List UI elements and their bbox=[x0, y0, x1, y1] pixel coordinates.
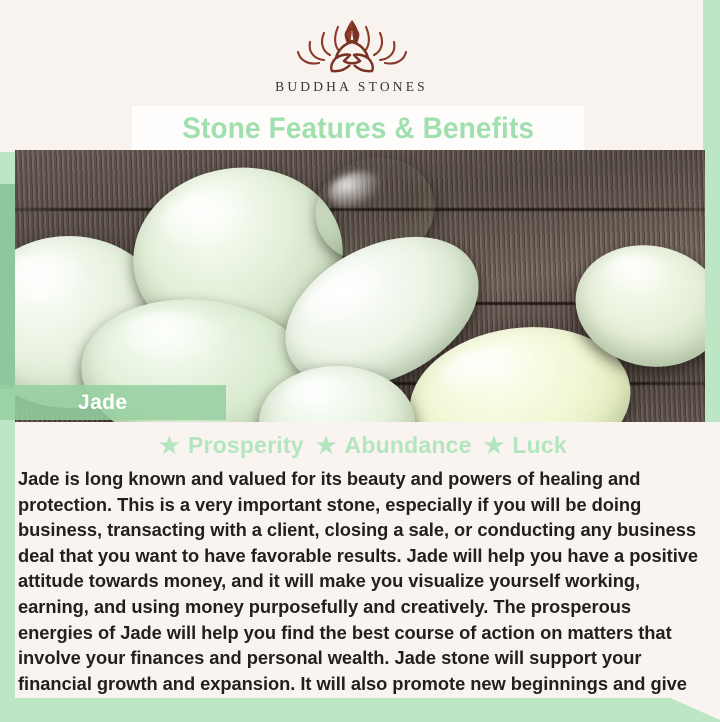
header-panel: BUDDHA STONES Stone Features & Benefits bbox=[0, 0, 703, 152]
lotus-meditation-icon bbox=[286, 14, 418, 76]
stone-photo bbox=[15, 150, 705, 422]
brand-block: BUDDHA STONES bbox=[0, 14, 703, 95]
left-accent-tab bbox=[0, 184, 15, 389]
keyword-abundance: Abundance bbox=[345, 432, 472, 458]
star-icon: ★ bbox=[484, 432, 505, 458]
page-title: Stone Features & Benefits bbox=[182, 112, 534, 146]
stone-name-banner: Jade bbox=[0, 385, 226, 420]
star-icon: ★ bbox=[159, 432, 180, 458]
title-banner: Stone Features & Benefits bbox=[132, 106, 584, 151]
bottom-accent-band bbox=[0, 698, 720, 720]
poster-root: BUDDHA STONES Stone Features & Benefits … bbox=[0, 0, 720, 720]
keyword-prosperity: Prosperity bbox=[188, 432, 304, 458]
keyword-luck: Luck bbox=[512, 432, 566, 458]
stone-description: Jade is long known and valued for its be… bbox=[18, 466, 708, 722]
photo-content bbox=[15, 150, 705, 422]
star-icon: ★ bbox=[316, 432, 337, 458]
stone-name-label: Jade bbox=[78, 391, 127, 415]
brand-name: BUDDHA STONES bbox=[275, 79, 428, 95]
keyword-list: ★Prosperity★Abundance★Luck bbox=[15, 432, 705, 459]
content-panel: ★Prosperity★Abundance★Luck Jade is long … bbox=[15, 422, 720, 700]
